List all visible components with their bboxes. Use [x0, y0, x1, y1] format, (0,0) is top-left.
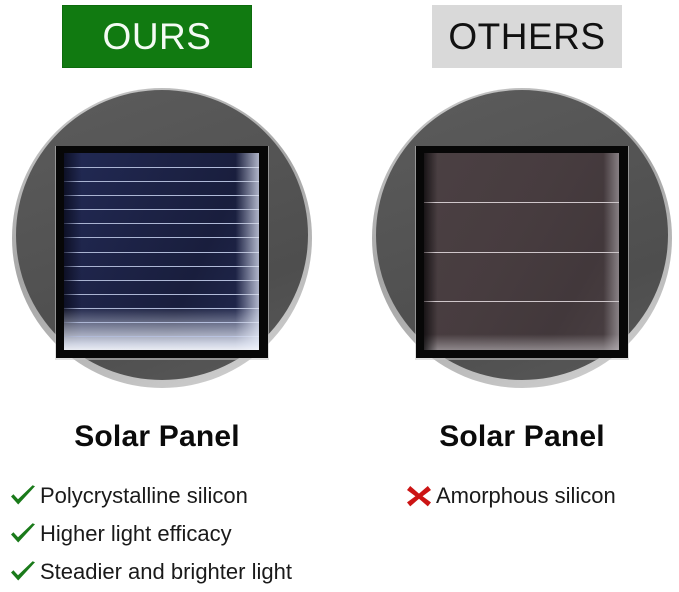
feature-label: Amorphous silicon [436, 485, 616, 507]
check-icon [8, 483, 38, 509]
solar-panel-surface-right [424, 153, 619, 350]
feature-list-left: Polycrystalline siliconHigher light effi… [8, 478, 292, 592]
panel-gridline [64, 223, 259, 224]
feature-row: Higher light efficacy [8, 516, 292, 551]
panel-gridline [64, 336, 259, 337]
feature-label: Higher light efficacy [40, 523, 232, 545]
comparison-stage: OURS OTHERS Solar Panel Solar Panel Poly… [0, 0, 679, 587]
panel-gridline [64, 167, 259, 168]
feature-list-right: Amorphous silicon [404, 478, 616, 516]
banner-others-label: OTHERS [448, 18, 605, 55]
solar-panel-frame-left [56, 146, 268, 358]
solar-panel-frame-right [416, 146, 628, 358]
caption-right: Solar Panel [352, 420, 679, 454]
panel-gridline [424, 301, 619, 302]
cross-icon [404, 483, 434, 509]
solar-lamp-right [372, 88, 672, 388]
panel-gridline [64, 237, 259, 238]
banner-ours-label: OURS [103, 18, 212, 55]
feature-row: Steadier and brighter light [8, 554, 292, 589]
panel-gridline [64, 195, 259, 196]
panel-gridline [424, 252, 619, 253]
feature-row: Amorphous silicon [404, 478, 616, 513]
feature-label: Polycrystalline silicon [40, 485, 248, 507]
banner-others: OTHERS [432, 5, 622, 68]
panel-gridline [64, 308, 259, 309]
panel-gridline [64, 252, 259, 253]
check-icon [8, 559, 38, 585]
panel-gridline [64, 280, 259, 281]
caption-left: Solar Panel [0, 420, 327, 454]
check-icon [8, 521, 38, 547]
panel-gridlines-left [64, 153, 259, 350]
panel-gridline [64, 209, 259, 210]
panel-gridlines-right [424, 153, 619, 350]
banner-ours: OURS [62, 5, 252, 68]
panel-gridline [64, 322, 259, 323]
panel-gridline [64, 266, 259, 267]
panel-gridline [64, 294, 259, 295]
solar-lamp-left [12, 88, 312, 388]
feature-row: Polycrystalline silicon [8, 478, 292, 513]
panel-gridline [64, 181, 259, 182]
panel-gridline [424, 202, 619, 203]
solar-panel-surface-left [64, 153, 259, 350]
feature-label: Steadier and brighter light [40, 561, 292, 583]
